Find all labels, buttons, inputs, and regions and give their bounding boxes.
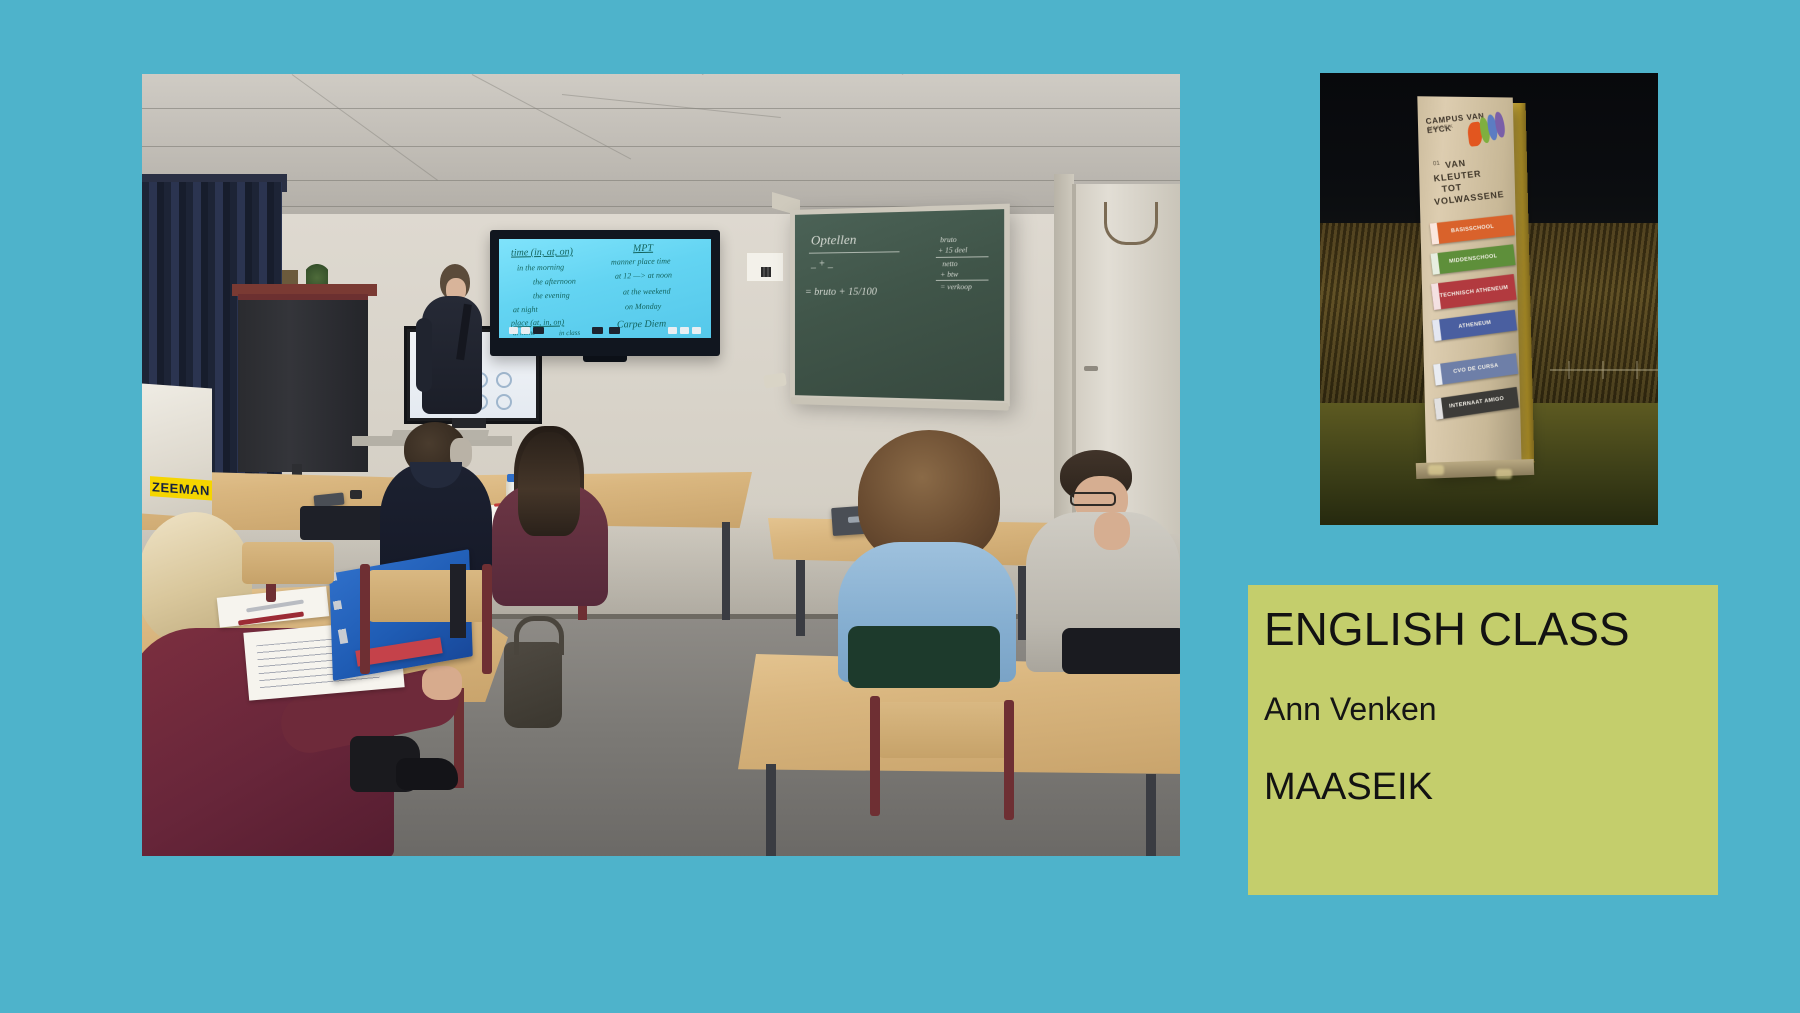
band-label: CVO DE CURSA — [1453, 363, 1499, 376]
student-hand — [422, 666, 462, 700]
chalkboard-line-3: + 15 deel — [938, 246, 967, 255]
band-tab — [1434, 398, 1444, 420]
card-title: ENGLISH CLASS — [1264, 603, 1704, 656]
card-teacher-name: Ann Venken — [1264, 690, 1704, 728]
smartboard-time-line-1: the afternoon — [533, 277, 576, 287]
chalkboard-title: Optellen — [811, 232, 857, 249]
smartboard-place-line-1: at work — [513, 337, 534, 338]
ceiling — [142, 74, 1180, 222]
sign-band-basisschool: BASISSCHOOL — [1430, 215, 1515, 245]
smartboard-heading-time: time (in, at, on) — [511, 246, 573, 258]
small-object — [350, 490, 362, 499]
band-label: TECHNISCH ATHENEUM — [1439, 285, 1508, 300]
student-blue-sweater — [838, 430, 1018, 678]
chair-frame — [870, 696, 880, 816]
wall-basket — [1104, 202, 1158, 245]
smartboard-mpt-line-1: at 12 —> at noon — [615, 270, 672, 280]
ground-light — [1496, 469, 1512, 479]
campus-sign-photo: CAMPUS VAN EYCK MAASEIK 01 VAN KLEUTER T… — [1320, 73, 1658, 525]
student-maroon-long-hair — [488, 426, 608, 602]
qr-code-icon — [761, 267, 771, 277]
table-leg — [722, 522, 730, 620]
teacher-arm — [416, 318, 432, 392]
band-tab — [1432, 319, 1442, 341]
smartboard-button[interactable] — [509, 327, 518, 334]
band-label: MIDDENSCHOOL — [1449, 254, 1498, 266]
smartboard-mpt-line-3: on Monday — [625, 302, 661, 312]
student-hair-front — [518, 432, 580, 536]
chalkboard-line-2: bruto — [940, 236, 957, 245]
card-location: MAASEIK — [1264, 766, 1704, 810]
chalkboard-line-4: netto — [942, 260, 957, 269]
title-card: ENGLISH CLASS Ann Venken MAASEIK — [1248, 585, 1718, 895]
fence-rail — [1550, 369, 1658, 371]
sign-band-middenschool: MIDDENSCHOOL — [1430, 244, 1515, 275]
sign-band-technisch-atheneum: TECHNISCH ATHENEUM — [1431, 274, 1517, 310]
smartboard-button[interactable] — [533, 327, 544, 334]
glasses-icon — [1070, 492, 1116, 506]
chair-frame — [482, 564, 492, 674]
fence-post — [1602, 361, 1604, 379]
shopping-bag: ZEEMAN — [142, 384, 212, 519]
chair-back — [242, 542, 334, 584]
boot — [396, 758, 458, 790]
chalkboard-line-5: + btw — [940, 270, 958, 279]
student-hand — [1094, 512, 1130, 550]
chalkboard-line-0: _ + _ — [811, 258, 833, 269]
smartboard-button[interactable] — [521, 327, 530, 334]
band-label: INTERNAAT AMIGO — [1449, 396, 1505, 410]
bag-handle — [514, 616, 564, 655]
band-tab — [1433, 364, 1443, 386]
chalkboard: Optellen _ + _ = bruto + 15/100 bruto + … — [790, 204, 1010, 407]
headline-line-2: TOT — [1441, 182, 1462, 194]
smartboard-time-line-3: at night — [513, 305, 538, 315]
chair-strap — [450, 564, 466, 638]
band-label: ATHENEUM — [1458, 320, 1491, 331]
smartboard-place-line-4: in the kitchen — [559, 337, 597, 338]
chalkboard-line-6: = verkoop — [940, 283, 972, 292]
sign-band-cvo-de-cursa: CVO DE CURSA — [1433, 353, 1518, 385]
fence-post — [1636, 361, 1638, 379]
table-leg — [1146, 774, 1156, 856]
student-gray-glasses — [1022, 450, 1180, 676]
band-label: BASISSCHOOL — [1451, 224, 1495, 235]
headline-number: 01 — [1433, 161, 1440, 168]
smartboard-heading-mpt: MPT — [633, 243, 653, 254]
teacher-person — [414, 264, 486, 414]
student-lower — [848, 626, 1000, 688]
interactive-smartboard[interactable]: time (in, at, on) in the morning the aft… — [490, 230, 720, 356]
classroom-photo: time (in, at, on) in the morning the aft… — [142, 74, 1180, 856]
smartboard-button-row[interactable] — [509, 325, 701, 335]
table-leg — [796, 560, 805, 636]
table-leg — [766, 764, 776, 856]
chair-frame — [360, 564, 370, 674]
chair-frame — [1004, 700, 1014, 820]
smartboard-screen: time (in, at, on) in the morning the aft… — [499, 239, 711, 338]
chalkboard-line-1: = bruto + 15/100 — [805, 287, 877, 298]
band-tab — [1431, 283, 1441, 310]
smartboard-chin — [583, 356, 627, 362]
av-cabinet — [238, 294, 368, 472]
smartboard-time-line-0: in the morning — [517, 263, 564, 273]
chair-back-right — [878, 702, 1008, 758]
smartboard-button[interactable] — [668, 327, 677, 334]
band-tab — [1430, 223, 1440, 245]
sign-band-atheneum: ATHENEUM — [1432, 310, 1517, 342]
chair-back — [368, 570, 486, 622]
smartboard-button[interactable] — [592, 327, 603, 334]
wall-notice — [746, 252, 784, 282]
smartboard-time-line-2: the evening — [533, 291, 570, 301]
headline-line-0: VAN — [1445, 158, 1467, 170]
smartboard-button[interactable] — [692, 327, 701, 334]
student-lower — [1062, 628, 1180, 674]
slide-canvas: time (in, at, on) in the morning the aft… — [0, 0, 1800, 1013]
door-handle[interactable] — [1084, 366, 1098, 371]
smartboard-button[interactable] — [680, 327, 689, 334]
fence-post — [1568, 361, 1570, 379]
smartboard-mpt-line-0: manner place time — [611, 256, 671, 266]
smartboard-mpt-line-2: at the weekend — [623, 287, 671, 297]
zeeman-logo: ZEEMAN — [150, 476, 212, 500]
band-tab — [1430, 253, 1440, 275]
sign-band-internaat-amigo: INTERNAAT AMIGO — [1434, 387, 1519, 420]
ground-light — [1428, 465, 1444, 475]
campus-sign-board: CAMPUS VAN EYCK MAASEIK 01 VAN KLEUTER T… — [1417, 96, 1521, 472]
smartboard-button[interactable] — [609, 327, 620, 334]
